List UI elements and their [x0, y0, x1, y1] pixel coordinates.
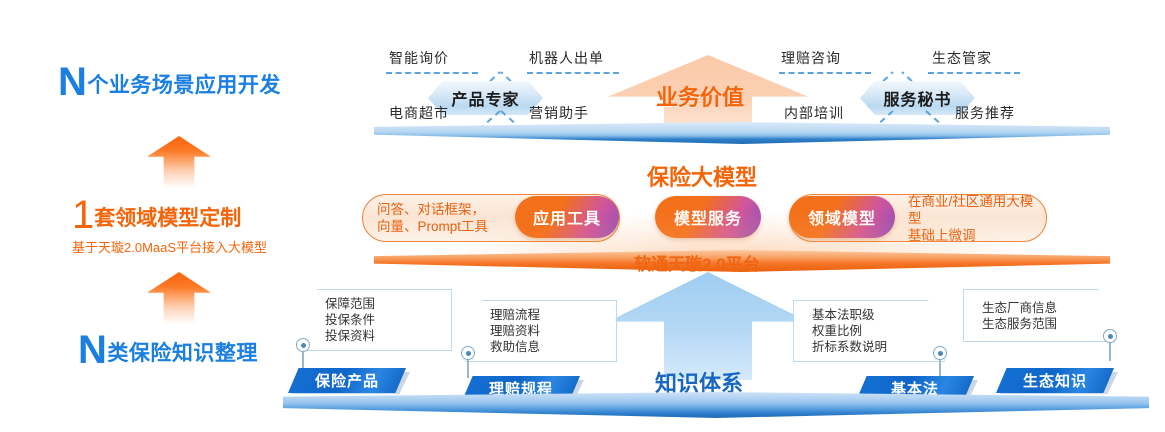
scenario-label-claims-consult: 理赔咨询: [781, 48, 841, 68]
connector-knob-icon: [1103, 329, 1117, 343]
dashed-connector: [386, 72, 478, 74]
knowledge-card-claims-procedure[interactable]: 理赔流程 理赔资料 救助信息: [465, 300, 617, 362]
rail-text: 个业务场景应用开发: [87, 74, 281, 97]
up-arrow-icon: [147, 272, 211, 324]
knowledge-system-arrow: [608, 272, 808, 380]
connector-knob-icon: [933, 346, 947, 360]
rail-number: 1: [72, 193, 94, 237]
scenario-label-robot-policy: 机器人出单: [529, 48, 604, 68]
rail-text: 套领域模型定制: [94, 207, 241, 230]
rail-label-model: 1套领域模型定制 基于天璇2.0MaaS平台接入大模型: [72, 195, 267, 256]
knowledge-card-lines: 基本法职级 权重比例 折标系数说明: [812, 307, 887, 355]
tag-label: 生态知识: [1023, 370, 1087, 391]
hexagon-label: 服务秘书: [883, 86, 951, 110]
knowledge-card-basic-law[interactable]: 基本法职级 权重比例 折标系数说明: [793, 300, 945, 362]
scenario-label-ecommerce: 电商超市: [389, 103, 449, 123]
knowledge-card-eco-knowledge[interactable]: 生态厂商信息 生态服务范围: [963, 289, 1115, 342]
connector-knob-icon: [296, 338, 310, 352]
rail-text: 类保险知识整理: [107, 342, 258, 365]
scenario-label-eco-steward: 生态管家: [932, 48, 992, 68]
connector-knob-icon: [461, 346, 475, 360]
rail-number: N: [58, 60, 87, 104]
knowledge-card-lines: 理赔流程 理赔资料 救助信息: [490, 307, 540, 355]
hexagon-label: 产品专家: [451, 86, 519, 110]
platform-heading: 软通天璇2.0平台: [634, 250, 760, 275]
scenario-label-smart-pricing: 智能询价: [389, 48, 449, 68]
insurance-model-heading: 保险大模型: [647, 160, 757, 192]
knowledge-card-insurance-product[interactable]: 保障范围 投保条件 投保资料: [300, 289, 452, 351]
knowledge-card-lines: 保障范围 投保条件 投保资料: [325, 296, 375, 344]
rail-subtitle: 基于天璇2.0MaaS平台接入大模型: [72, 237, 267, 256]
knowledge-tag-eco-knowledge[interactable]: 生态知识: [996, 368, 1114, 393]
dashed-connector: [527, 72, 619, 74]
knowledge-tag-insurance-product[interactable]: 保险产品: [288, 368, 406, 393]
dashed-connector: [928, 72, 1020, 74]
up-arrow-icon: [147, 136, 211, 188]
business-value-heading: 业务价值: [656, 80, 744, 112]
knowledge-base-slab: [283, 392, 1149, 418]
rail-number: N: [78, 328, 107, 372]
knowledge-card-lines: 生态厂商信息 生态服务范围: [982, 300, 1057, 332]
tag-label: 保险产品: [315, 370, 379, 391]
scenario-label-marketing-assistant: 营销助手: [529, 103, 589, 123]
dashed-connector: [779, 72, 871, 74]
scenario-label-internal-training: 内部培训: [784, 103, 844, 123]
scenario-label-service-recommend: 服务推荐: [955, 103, 1015, 123]
rail-label-scenarios: N个业务场景应用开发: [58, 62, 281, 102]
diagram-canvas: N个业务场景应用开发 1套领域模型定制 基于天璇2.0MaaS平台接入大模型 N…: [0, 0, 1165, 432]
rail-label-knowledge: N类保险知识整理: [78, 330, 258, 370]
